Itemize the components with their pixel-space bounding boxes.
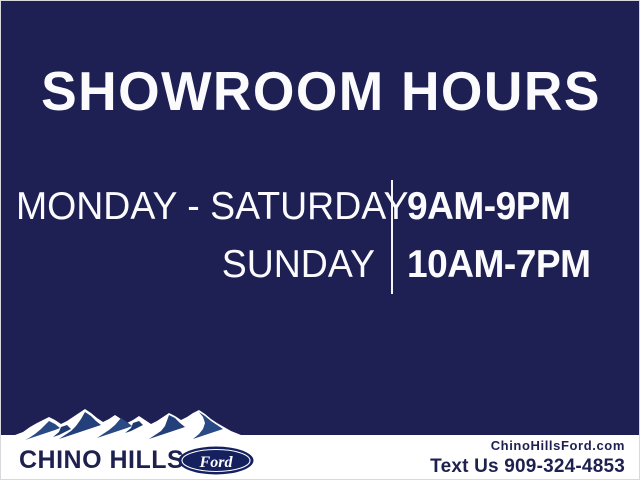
phone-number[interactable]: Text Us 909-324-4853: [430, 455, 625, 479]
logo-wordmark: CHINO HILLS: [19, 446, 184, 474]
showroom-hours-sign: SHOWROOM HOURS MONDAY - SATURDAY 9AM-9PM…: [0, 0, 640, 480]
table-row: SUNDAY 10AM-7PM: [1, 237, 640, 293]
table-row: MONDAY - SATURDAY 9AM-9PM: [1, 179, 640, 235]
page-title: SHOWROOM HOURS: [11, 62, 632, 120]
contact-block: ChinoHillsFord.com Text Us 909-324-4853: [430, 437, 625, 479]
ford-logo-icon: Ford: [178, 446, 254, 475]
dealership-logo: CHINO HILLS Ford: [15, 405, 265, 477]
hours-day-label: SUNDAY: [16, 243, 375, 287]
mountain-range-icon: [15, 405, 241, 445]
hours-table: MONDAY - SATURDAY 9AM-9PM SUNDAY 10AM-7P…: [1, 177, 640, 297]
svg-text:Ford: Ford: [199, 454, 234, 471]
hours-day-label: MONDAY - SATURDAY: [16, 185, 375, 229]
hours-time-value: 9AM-9PM: [407, 185, 570, 229]
website-link[interactable]: ChinoHillsFord.com: [430, 437, 625, 455]
hours-time-value: 10AM-7PM: [407, 243, 591, 287]
